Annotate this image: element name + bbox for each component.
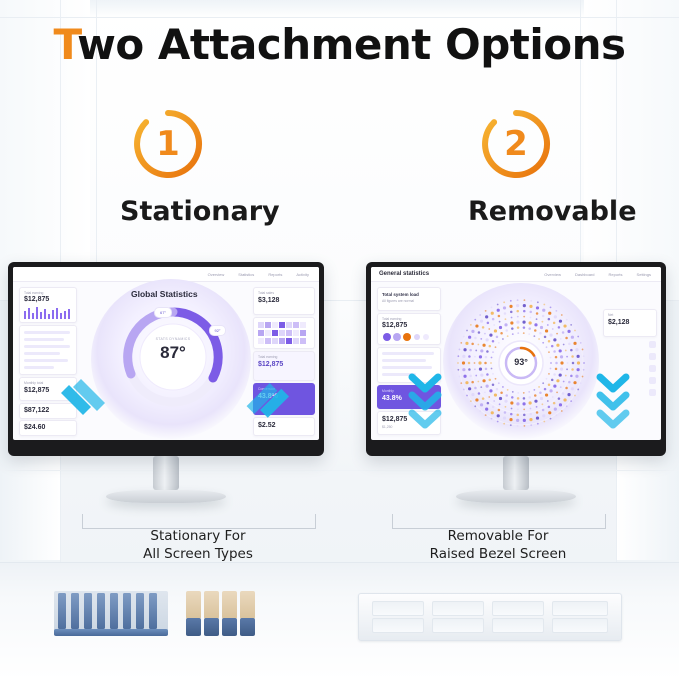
adhesive-tape-backing — [204, 618, 219, 636]
bezel-clip — [372, 618, 424, 633]
rail-icon-2[interactable] — [649, 353, 656, 360]
card-heatmap[interactable] — [253, 317, 315, 349]
right-rail-icons[interactable] — [649, 341, 656, 396]
card-label: Total sales — [258, 291, 274, 295]
card-label: Monthly — [382, 389, 394, 393]
card-value: $12,875 — [382, 416, 407, 423]
option-2-number: 2 — [480, 108, 552, 180]
adhesive-tape-pad — [222, 591, 237, 619]
rail-icon-4[interactable] — [649, 377, 656, 384]
panel-system-load[interactable]: Total system load All figures are normal — [377, 287, 441, 311]
dashboard-right: General statistics Overview Dashboard Re… — [371, 267, 661, 440]
tab-overview[interactable]: Overview — [208, 272, 225, 277]
mounting-strip — [97, 593, 105, 629]
heatmap-grid — [258, 322, 310, 344]
monitor-left-stand-base — [106, 490, 226, 503]
mounting-strip — [58, 593, 66, 629]
option-1-badge: 1 — [132, 108, 204, 180]
bezel-clip — [552, 618, 608, 633]
page-title-rest: wo Attachment Options — [77, 20, 625, 69]
monitor-right-stand-base — [456, 490, 576, 503]
scene: Two Attachment Options 1 Stationary 2 — [0, 0, 679, 679]
panel-subtitle: All figures are normal — [382, 299, 414, 303]
mounting-strip — [71, 593, 79, 629]
monitor-right-stand-neck — [503, 456, 529, 490]
gauge-value: 87° — [121, 343, 225, 363]
caption-left-line1: Stationary For — [82, 527, 314, 545]
monitor-right-screen: General statistics Overview Dashboard Re… — [371, 267, 661, 440]
card-value: $87,122 — [24, 407, 49, 414]
adhesive-tape-pad — [240, 591, 255, 619]
card-label: Net — [608, 313, 613, 317]
tab-reports[interactable]: Reports — [609, 272, 623, 277]
mounting-strip — [84, 593, 92, 629]
card-value: $12,875 — [24, 387, 49, 394]
rail-icon-3[interactable] — [649, 365, 656, 372]
arrow-indicator-left — [61, 379, 117, 435]
mounting-strip — [136, 593, 144, 629]
caption-right-line1: Removable For — [392, 527, 604, 545]
dashboard-right-tabs[interactable]: Overview Dashboard Reports Settings — [544, 272, 651, 277]
rail-icon-5[interactable] — [649, 389, 656, 396]
tab-reports[interactable]: Reports — [268, 272, 282, 277]
card-net[interactable]: Net $2,128 — [603, 309, 657, 337]
adhesive-tape-pad — [186, 591, 201, 619]
page-title: Two Attachment Options — [0, 20, 679, 69]
caption-left: Stationary For All Screen Types — [82, 527, 314, 563]
bezel-clip — [432, 601, 484, 616]
bezel-clip — [492, 601, 544, 616]
option-2-badge: 2 — [480, 108, 552, 180]
option-2-label: Removable — [468, 196, 564, 227]
bar-sparkline — [24, 306, 72, 319]
tab-settings[interactable]: Settings — [637, 272, 651, 277]
bezel-clip — [492, 618, 544, 633]
caption-left-line2: All Screen Types — [82, 545, 314, 563]
card-value: $3,128 — [258, 297, 279, 304]
chevron-indicator-left — [407, 371, 443, 429]
tab-overview[interactable]: Overview — [544, 272, 561, 277]
card-value: $12,875 — [24, 296, 49, 303]
monitor-left: Overview Statistics Reports Activity Glo… — [8, 262, 324, 503]
card-value: 43.8% — [382, 395, 402, 402]
panel-title: Total system load — [382, 292, 419, 297]
adhesive-tape-pad — [204, 591, 219, 619]
option-1: 1 Stationary — [120, 108, 216, 227]
card-total-earning-2[interactable]: Total earning $12,875 — [253, 351, 315, 381]
monitor-left-screen: Overview Statistics Reports Activity Glo… — [13, 267, 319, 440]
gauge-badge-right: 92° — [209, 325, 226, 336]
dashboard-right-title: General statistics — [379, 271, 429, 277]
adhesive-tape-backing — [222, 618, 237, 636]
dashboard-left-tabs[interactable]: Overview Statistics Reports Activity — [208, 272, 309, 277]
adhesive-tape-backing — [240, 618, 255, 636]
card-label: Total earning — [258, 355, 277, 359]
bezel-clip — [372, 601, 424, 616]
card-value: $12,875 — [258, 361, 283, 368]
chevron-indicator-right — [595, 371, 631, 429]
monitor-left-bezel: Overview Statistics Reports Activity Glo… — [8, 262, 324, 456]
caption-right-line2: Raised Bezel Screen — [392, 545, 604, 563]
tab-statistics[interactable]: Statistics — [238, 272, 254, 277]
monitor-right-bezel: General statistics Overview Dashboard Re… — [366, 262, 666, 456]
dashboard-left: Overview Statistics Reports Activity Glo… — [13, 267, 319, 440]
dot-legend — [382, 332, 436, 341]
card-label: $1,250 — [382, 425, 392, 429]
card-label: Total earning — [382, 317, 401, 321]
page-title-initial: T — [54, 20, 78, 69]
bezel-clip — [432, 618, 484, 633]
radial-center-value: 93° — [447, 357, 595, 367]
accessory-shelf — [0, 562, 679, 680]
card-label: Monthly total — [24, 381, 43, 385]
option-1-number: 1 — [132, 108, 204, 180]
gauge-badge-top: 67° — [154, 307, 172, 318]
tab-dashboard[interactable]: Dashboard — [575, 272, 595, 277]
arrow-indicator-right — [235, 383, 289, 437]
mounting-strip — [149, 593, 157, 629]
rail-icon-1[interactable] — [649, 341, 656, 348]
monitor-right: General statistics Overview Dashboard Re… — [366, 262, 666, 503]
tab-activity[interactable]: Activity — [296, 272, 309, 277]
mounting-strip-base — [54, 629, 168, 636]
card-value: $12,875 — [382, 322, 407, 329]
card-value: $24.60 — [24, 424, 45, 431]
monitor-left-stand-neck — [153, 456, 179, 490]
adhesive-tape-backing — [186, 618, 201, 636]
dashboard-left-title: Global Statistics — [131, 289, 198, 299]
card-total-earning[interactable]: Total earning $12,875 — [377, 313, 441, 345]
mounting-strip — [110, 593, 118, 629]
gauge-caption: STATS DYNAMICS — [121, 337, 225, 341]
card-label: Total earning — [24, 291, 43, 295]
background-panel-ceiling — [0, 0, 679, 18]
option-2: 2 Removable — [468, 108, 564, 227]
option-1-label: Stationary — [120, 196, 216, 227]
card-list[interactable] — [19, 325, 77, 375]
card-value: $2,128 — [608, 319, 629, 326]
card-total-sales[interactable]: Total sales $3,128 — [253, 287, 315, 315]
card-total-earning[interactable]: Total earning $12,875 — [19, 287, 77, 323]
bezel-clip — [552, 601, 608, 616]
caption-right: Removable For Raised Bezel Screen — [392, 527, 604, 563]
background-line — [0, 17, 679, 18]
mounting-strip — [123, 593, 131, 629]
